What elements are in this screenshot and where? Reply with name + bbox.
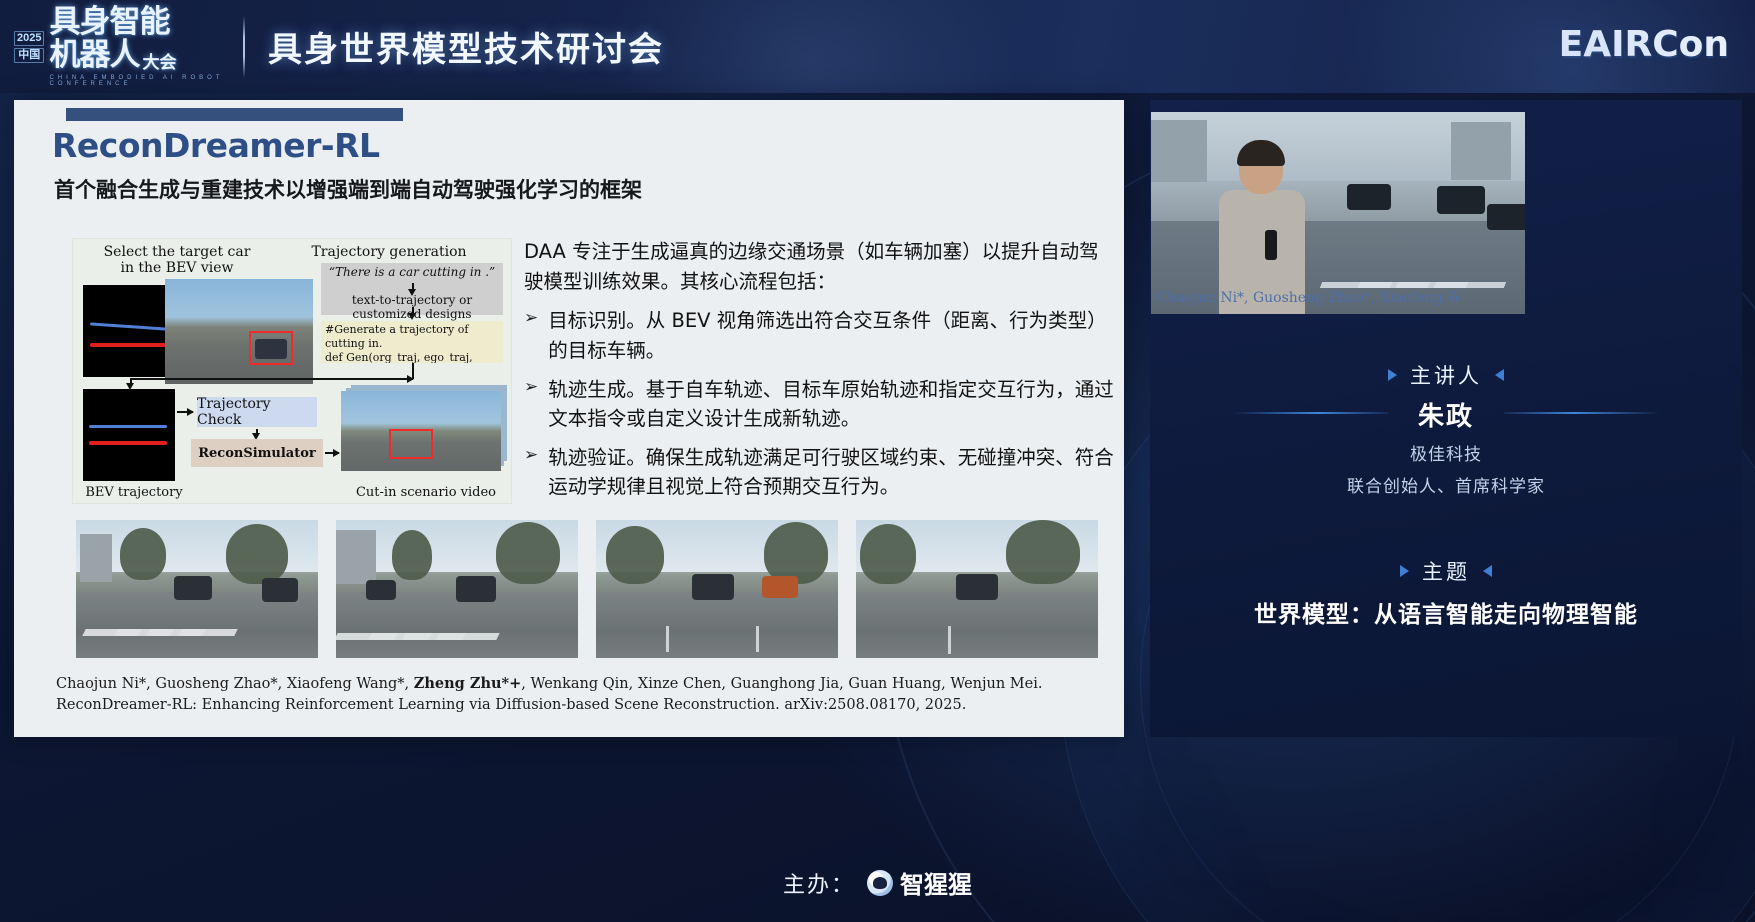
triangle-left-icon (1388, 369, 1397, 381)
target-car-camera-image (165, 279, 313, 384)
recon-simulator-box: ReconSimulator (191, 439, 323, 467)
slide-title-accent-bar (66, 108, 403, 121)
thumb-tree (764, 522, 828, 584)
video-car (1347, 184, 1391, 210)
footer-bar: 主办： 智猩猩 (0, 865, 1755, 900)
body-bullet-1: ➢ 目标识别。从 BEV 视角筛选出符合交互条件（距离、行为类型）的目标车辆。 (524, 306, 1114, 365)
thumb-car-orange (762, 576, 798, 598)
cutin-car-bounding-box (389, 429, 433, 459)
bullet-marker-icon: ➢ (524, 306, 538, 365)
thumb-building (80, 534, 112, 582)
thumb-lane-marking (756, 626, 759, 652)
thumb-building (336, 530, 376, 584)
logo-line-2: 机器人 大会 (49, 39, 230, 72)
scenario-thumb-2 (336, 520, 578, 658)
slide-area: ReconDreamer-RL 首个融合生成与重建技术以增强端到端自动驾驶强化学… (14, 100, 1124, 737)
thumb-tree (120, 528, 166, 580)
figure-arrow-head-1 (408, 289, 416, 296)
microphone-icon (1265, 230, 1277, 260)
cut-in-scenario-video-image (341, 391, 501, 471)
speaker-organization: 极佳科技 (1150, 440, 1742, 465)
logo-line-2-suffix: 大会 (142, 55, 176, 72)
body-intro-paragraph: DAA 专注于生成逼真的边缘交通场景（如车辆加塞）以提升自动驾驶模型训练效果。其… (524, 237, 1114, 296)
thumb-car (456, 576, 496, 602)
thumb-tree (860, 524, 916, 584)
thumb-car (956, 574, 998, 600)
event-title: 具身世界模型技术研讨会 (268, 22, 664, 71)
topic-section-heading: 主题 (1150, 556, 1742, 586)
body-bullet-3-text: 轨迹验证。确保生成轨迹满足可行驶区域约束、无碰撞冲突、符合运动学规律且视觉上符合… (548, 443, 1114, 502)
trajectory-check-box: Trajectory Check (197, 397, 317, 427)
speaker-hair (1237, 140, 1285, 166)
sponsor-logo-icon (867, 870, 893, 896)
figure-arrow-to-check (177, 411, 193, 413)
bev-ego-trajectory-line (90, 322, 166, 330)
thumb-crosswalk-stripe (436, 633, 499, 640)
video-car (1437, 186, 1485, 214)
triangle-right-icon (1495, 369, 1504, 381)
thumb-lane-marking (948, 626, 951, 654)
figure-arrow-head-2 (408, 313, 416, 320)
caption-cutin-scenario: Cut-in scenario video (341, 485, 511, 500)
code-line-2: def Gen(org_traj, ego_traj, behaviours): (325, 351, 499, 364)
slide-subtitle: 首个融合生成与重建技术以增强端到端自动驾驶强化学习的框架 (54, 174, 642, 204)
figure-label-select-line1: Select the target car (87, 245, 267, 261)
video-overlay-caption: Chaojun Ni*, Guosheng Zhao*, Xiaofeng W (1157, 290, 1525, 306)
speaker-role: 联合创始人、首席科学家 (1150, 472, 1742, 497)
body-bullet-2: ➢ 轨迹生成。基于自车轨迹、目标车原始轨迹和指定交互行为，通过文本指令或自定义设… (524, 375, 1114, 434)
topic-title: 世界模型：从语言智能走向物理智能 (1150, 595, 1742, 629)
bev-trajectory-result-image (83, 389, 175, 481)
body-bullet-1-text: 目标识别。从 BEV 视角筛选出符合交互条件（距离、行为类型）的目标车辆。 (548, 306, 1114, 365)
thumb-lane-marking (666, 626, 669, 652)
figure-label-select-target-car: Select the target car in the BEV view (87, 245, 267, 276)
footer-sponsor: 智猩猩 (867, 865, 972, 900)
caption-bev-trajectory: BEV trajectory (79, 485, 189, 500)
code-line-1: #Generate a trajectory of cutting in. (325, 323, 499, 351)
speaker-figure (1213, 144, 1309, 314)
brand-logo-eaircon: EAIRCon (1559, 24, 1729, 65)
body-bullet-3: ➢ 轨迹验证。确保生成轨迹满足可行驶区域约束、无碰撞冲突、符合运动学规律且视觉上… (524, 443, 1114, 502)
thumb-tree (1006, 520, 1080, 584)
thumb-car (692, 574, 734, 600)
scenario-thumb-4 (856, 520, 1098, 658)
figure-label-select-line2: in the BEV view (87, 261, 267, 277)
speaker-section-label: 主讲人 (1410, 360, 1482, 390)
figure-label-trajectory-generation: Trajectory generation (279, 245, 499, 261)
thumb-car (366, 580, 396, 600)
video-car (1487, 204, 1525, 230)
logo-line-1: 具身智能 (49, 7, 230, 38)
citation-text: Chaojun Ni*, Guosheng Zhao*, Xiaofeng Wa… (56, 674, 1096, 715)
topic-section-label: 主题 (1422, 556, 1470, 586)
target-car-bounding-box (249, 331, 293, 365)
thumb-car (174, 576, 212, 600)
scenario-thumb-3 (596, 520, 838, 658)
header-divider (243, 16, 245, 78)
thumb-tree (496, 522, 560, 584)
thumb-tree (606, 526, 664, 584)
prompt-quote-text: “There is a car cutting in .” (321, 265, 503, 279)
triangle-right-icon (1483, 565, 1492, 577)
logo-subtitle-latin: CHINA EMBODIED AI ROBOT CONFERENCE (49, 75, 230, 87)
thumb-tree (226, 524, 288, 584)
footer-sponsor-name: 智猩猩 (900, 865, 972, 900)
logo-line-2-main: 机器人 (49, 39, 139, 72)
thumb-car (262, 578, 298, 602)
bev-target-trajectory-line (90, 343, 166, 347)
conference-logo-year-country: 2025 中国 (14, 31, 44, 63)
slide-body-text: DAA 专注于生成逼真的边缘交通场景（如车辆加塞）以提升自动驾驶模型训练效果。其… (524, 237, 1114, 511)
citation-part-1: Chaojun Ni*, Guosheng Zhao*, Xiaofeng Wa… (56, 676, 414, 692)
thumb-tree (392, 530, 432, 580)
logo-country: 中国 (14, 48, 44, 63)
slide-title: ReconDreamer-RL (52, 126, 380, 165)
thumb-road (336, 592, 578, 658)
bev-view-image (83, 285, 175, 377)
speaker-section-heading: 主讲人 (1150, 360, 1742, 390)
speaker-name: 朱政 (1150, 396, 1742, 433)
logo-year: 2025 (14, 31, 44, 46)
code-snippet-block: #Generate a trajectory of cutting in. de… (321, 321, 503, 363)
thumb-road (596, 592, 838, 658)
bullet-marker-icon: ➢ (524, 375, 538, 434)
figure-arrow-to-video (325, 452, 339, 454)
pipeline-figure: Select the target car in the BEV view Tr… (72, 238, 512, 504)
scenario-thumb-1 (76, 520, 318, 658)
bev2-ego-trajectory-line (89, 425, 167, 428)
video-building (1451, 122, 1511, 180)
thumb-crosswalk-stripe (178, 629, 237, 636)
video-building (1151, 120, 1207, 182)
footer-organizer-label: 主办： (783, 867, 855, 899)
header-bar: 2025 中国 具身智能 机器人 大会 CHINA EMBODIED AI RO… (0, 0, 1755, 93)
scenario-thumbnail-strip (76, 520, 1108, 658)
triangle-left-icon (1400, 565, 1409, 577)
video-crosswalk-stripe (1434, 282, 1506, 288)
figure-connector-horizontal (131, 378, 413, 380)
citation-bold-author: Zheng Zhu*+ (414, 675, 521, 692)
bullet-marker-icon: ➢ (524, 443, 538, 502)
conference-logo-text: 具身智能 机器人 大会 CHINA EMBODIED AI ROBOT CONF… (49, 7, 230, 87)
speaker-panel: Chaojun Ni*, Guosheng Zhao*, Xiaofeng W … (1150, 100, 1742, 737)
conference-logo: 2025 中国 具身智能 机器人 大会 CHINA EMBODIED AI RO… (14, 6, 230, 88)
speaker-video-feed[interactable]: Chaojun Ni*, Guosheng Zhao*, Xiaofeng W (1151, 112, 1525, 314)
body-bullet-2-text: 轨迹生成。基于自车轨迹、目标车原始轨迹和指定交互行为，通过文本指令或自定义设计生… (548, 375, 1114, 434)
bev2-generated-trajectory-line (89, 441, 167, 445)
thumb-road (856, 592, 1098, 658)
